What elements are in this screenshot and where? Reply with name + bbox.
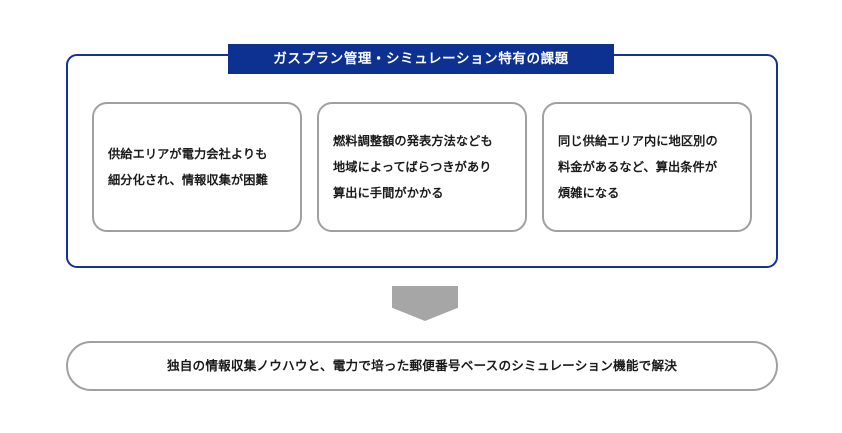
card-line: 地域によってばらつきがあり: [333, 154, 511, 180]
challenge-cards-row: 供給エリアが電力会社よりも 細分化され、情報収集が困難 燃料調整額の発表方法など…: [92, 102, 752, 232]
challenge-card-fuel-adjustment: 燃料調整額の発表方法なども 地域によってばらつきがあり 算出に手間がかかる: [317, 102, 527, 232]
down-arrow-icon: [392, 286, 458, 321]
card-line: 煩雑になる: [558, 180, 736, 206]
card-line: 料金があるなど、算出条件が: [558, 154, 736, 180]
challenge-card-supply-area: 供給エリアが電力会社よりも 細分化され、情報収集が困難: [92, 102, 302, 232]
diagram-canvas: ガスプラン管理・シミュレーション特有の課題 供給エリアが電力会社よりも 細分化さ…: [0, 0, 842, 433]
solution-pill: 独自の情報収集ノウハウと、電力で培った郵便番号ベースのシミュレーション機能で解決: [66, 341, 778, 391]
solution-text: 独自の情報収集ノウハウと、電力で培った郵便番号ベースのシミュレーション機能で解決: [167, 360, 677, 373]
challenge-card-text: 供給エリアが電力会社よりも 細分化され、情報収集が困難: [108, 141, 286, 193]
challenge-card-text: 燃料調整額の発表方法なども 地域によってばらつきがあり 算出に手間がかかる: [333, 128, 511, 206]
challenge-card-text: 同じ供給エリア内に地区別の 料金があるなど、算出条件が 煩雑になる: [558, 128, 736, 206]
card-line: 算出に手間がかかる: [333, 180, 511, 206]
card-line: 同じ供給エリア内に地区別の: [558, 128, 736, 154]
section-banner: ガスプラン管理・シミュレーション特有の課題: [228, 44, 614, 74]
card-line: 細分化され、情報収集が困難: [108, 167, 286, 193]
card-line: 供給エリアが電力会社よりも: [108, 141, 286, 167]
section-banner-title: ガスプラン管理・シミュレーション特有の課題: [273, 52, 569, 66]
challenge-card-district-rates: 同じ供給エリア内に地区別の 料金があるなど、算出条件が 煩雑になる: [542, 102, 752, 232]
card-line: 燃料調整額の発表方法なども: [333, 128, 511, 154]
